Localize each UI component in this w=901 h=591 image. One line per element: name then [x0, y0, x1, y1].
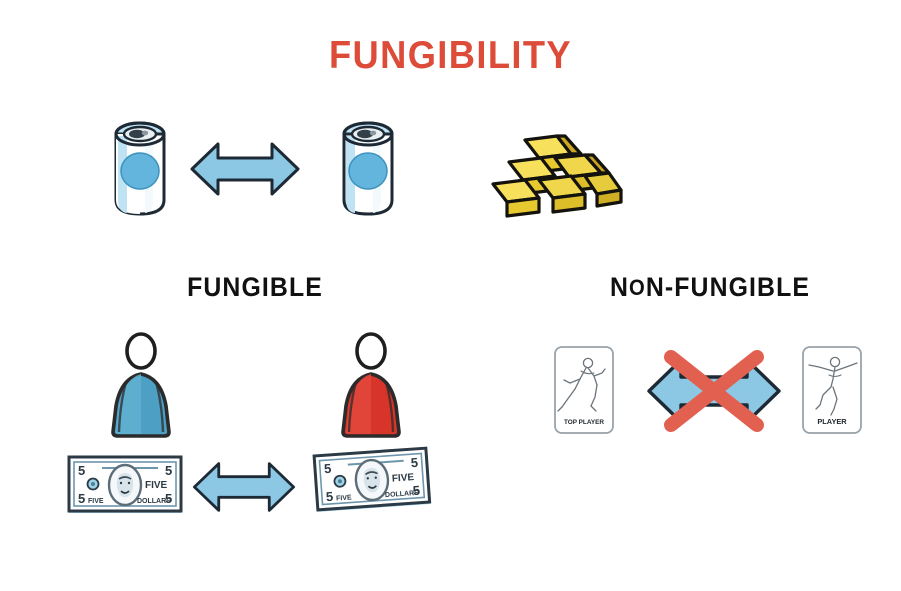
bill-word-five: FIVE: [336, 494, 352, 502]
bill-word-value: FIVE: [145, 480, 168, 491]
infographic-canvas: FUNGIBILITY: [0, 0, 901, 591]
five-dollar-bill-left: 5 5 5 5 FIVE FIVE DOLLARS: [66, 455, 184, 517]
gold-bars-stack-icon: [485, 128, 625, 220]
bill-corner-bl: 5: [325, 489, 333, 504]
card-caption-right: PLAYER: [817, 417, 847, 426]
bill-word-dollars: DOLLARS: [137, 498, 171, 505]
five-dollar-bill-right: 5 5 5 5 FIVE FIVE DOLLARS: [311, 446, 433, 516]
exchange-arrow-money-icon: [192, 458, 296, 516]
bill-corner-tl: 5: [78, 463, 85, 478]
card-caption-left: TOP PLAYER: [564, 419, 604, 426]
bill-corner-tr: 5: [410, 455, 418, 470]
trading-card-player: PLAYER: [801, 345, 863, 435]
label-part-rest: N-FUNGIBLE: [646, 272, 810, 302]
person-blue-icon: [100, 332, 182, 440]
label-part-o: O: [629, 275, 646, 300]
bill-word-value: FIVE: [392, 472, 415, 485]
bill-word-five: FIVE: [88, 498, 104, 505]
trading-card-top-player: TOP PLAYER: [553, 345, 615, 435]
not-exchangeable-arrow-icon: [645, 345, 783, 437]
soda-can-left-icon: [105, 116, 175, 221]
label-part-n: N: [610, 272, 629, 302]
person-red-icon: [330, 332, 412, 440]
section-label-fungible: FUNGIBLE: [89, 272, 420, 303]
bill-corner-tl: 5: [324, 461, 332, 476]
bill-corner-bl: 5: [78, 491, 85, 506]
bill-corner-tr: 5: [165, 463, 172, 478]
exchange-arrow-cans-icon: [190, 138, 300, 200]
page-title: FUNGIBILITY: [32, 34, 870, 78]
soda-can-right-icon: [333, 116, 403, 221]
fungible-cans-row: [95, 108, 425, 228]
section-label-non-fungible: NON-FUNGIBLE: [544, 272, 875, 303]
